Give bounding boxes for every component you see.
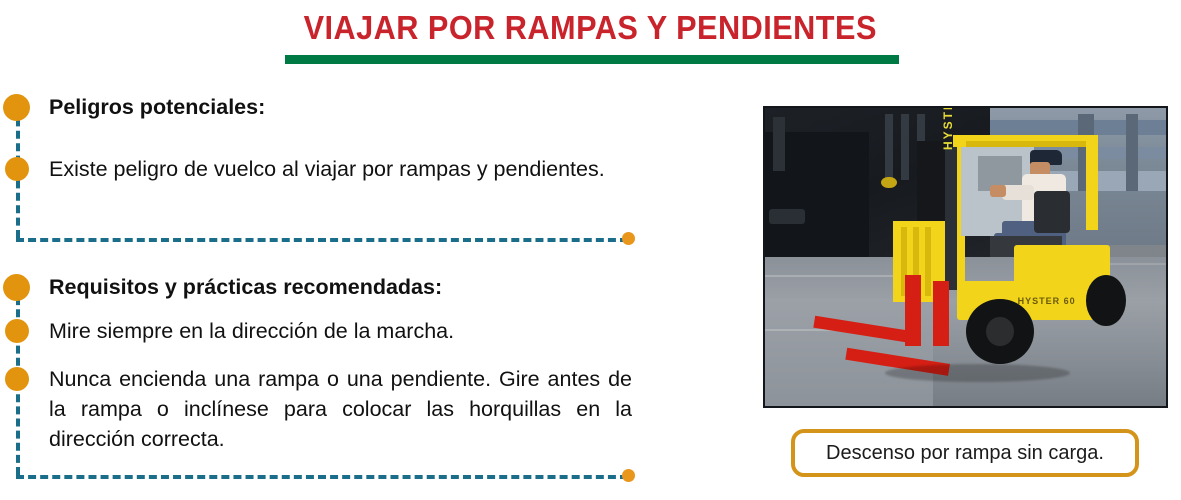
content-column: Peligros potenciales: Existe peligro de … [0, 92, 660, 492]
bullet-dot-icon [5, 157, 29, 181]
slide-canvas: VIAJAR POR RAMPAS Y PENDIENTES Peligros … [0, 0, 1181, 500]
photo-wheel-hub [986, 317, 1014, 347]
connector-end-dot [622, 469, 635, 482]
photo-operator-arm [1002, 185, 1034, 200]
forklift-photo: HYSTER HYSTER 60 [765, 108, 1166, 406]
photo-rear-wheel [1086, 275, 1126, 326]
title-underline-rule [285, 55, 899, 64]
photo-caption-box: Descenso por rampa sin carga. [791, 429, 1139, 477]
photo-fork-vertical [933, 281, 949, 347]
photo-shadow [885, 364, 1069, 382]
list-item-label: Requisitos y prácticas recomendadas: [49, 272, 632, 302]
photo-caption-text: Descenso por rampa sin carga. [826, 442, 1104, 465]
photo-guard-post [1086, 135, 1098, 230]
list-item-label: Nunca encienda una rampa o una pendiente… [49, 364, 632, 454]
connector-horizontal-rail [16, 238, 628, 242]
page-title-block: VIAJAR POR RAMPAS Y PENDIENTES [0, 8, 1181, 48]
page-title: VIAJAR POR RAMPAS Y PENDIENTES [304, 8, 877, 48]
photo-machine-detail [901, 114, 909, 180]
bullet-dot-icon [5, 319, 29, 343]
connector-horizontal-rail [16, 475, 628, 479]
photo-brand-label: HYSTER [941, 106, 955, 150]
photo-seat [1034, 191, 1070, 233]
photo-machine-detail [885, 114, 893, 180]
bullet-dot-icon [3, 94, 30, 121]
photo-mast [945, 147, 957, 290]
connector-end-dot [622, 232, 635, 245]
photo-rack-post [1126, 114, 1138, 191]
photo-machine-detail [773, 117, 785, 171]
photo-backrest-slat [925, 227, 931, 296]
list-item-label: Existe peligro de vuelco al viajar por r… [49, 154, 632, 184]
photo-machine-detail [769, 209, 805, 224]
bullet-dot-icon [3, 274, 30, 301]
bullet-dot-icon [5, 367, 29, 391]
forklift-photo-frame: HYSTER HYSTER 60 [763, 106, 1168, 408]
photo-operator-hand [990, 185, 1006, 197]
photo-floor-seam [765, 275, 901, 277]
list-item-label: Peligros potenciales: [49, 92, 632, 122]
list-item-label: Mire siempre en la dirección de la march… [49, 316, 632, 346]
photo-model-badge: HYSTER 60 [1018, 296, 1076, 306]
